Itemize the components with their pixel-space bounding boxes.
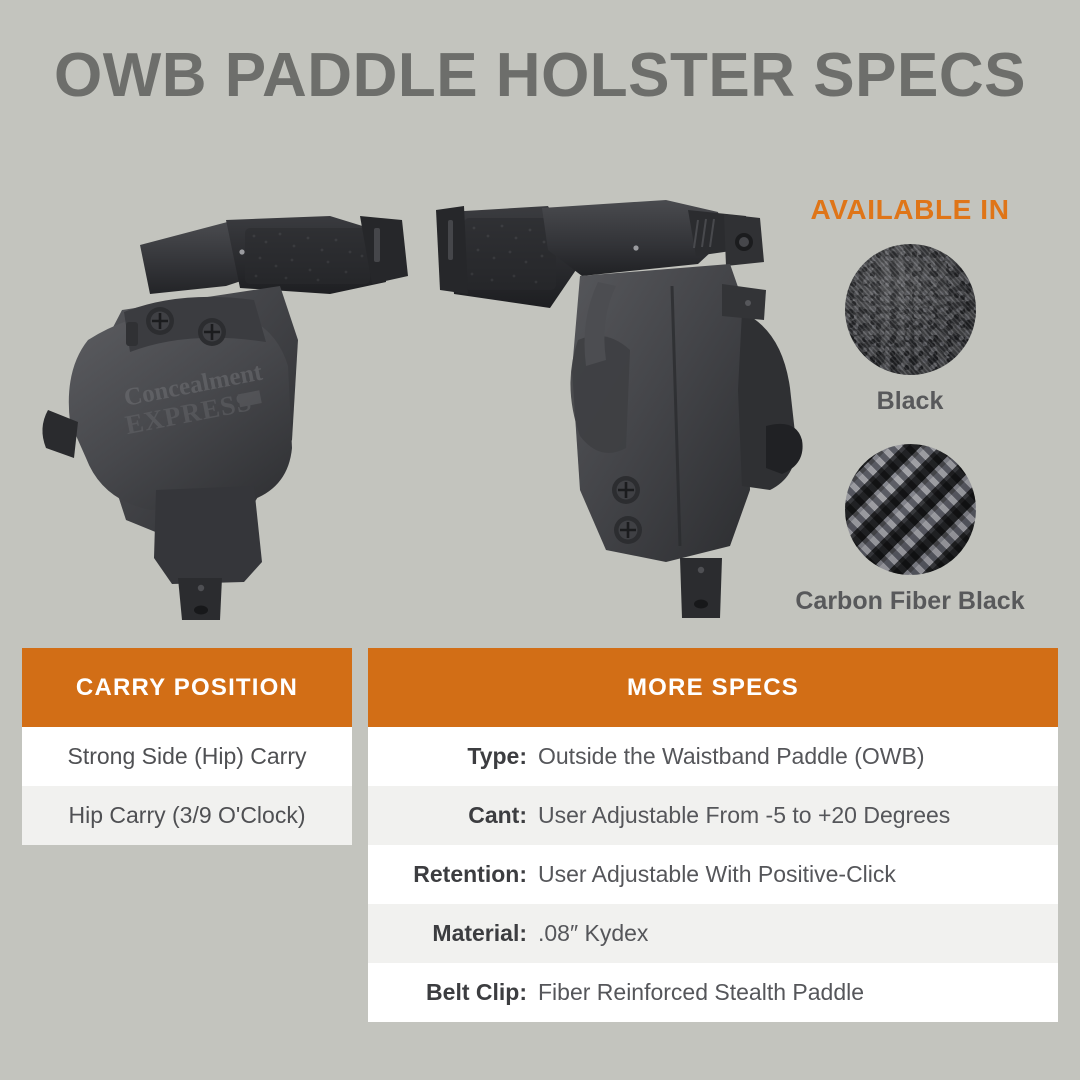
table-row: Hip Carry (3/9 O'Clock)	[22, 786, 352, 845]
black-kydex-swatch[interactable]	[845, 244, 976, 375]
spec-label: Belt Clip:	[368, 979, 538, 1006]
holster-front-view: Concealment EXPRESS	[30, 190, 430, 630]
carry-position-value: Strong Side (Hip) Carry	[22, 727, 352, 786]
spec-label: Retention:	[368, 861, 538, 888]
carbon-fiber-swatch[interactable]	[845, 444, 976, 575]
carry-position-header: CARRY POSITION	[22, 648, 352, 727]
swatch-black[interactable]: Black	[760, 244, 1060, 416]
adjustment-screw	[146, 307, 174, 335]
spec-value: User Adjustable With Positive-Click	[538, 861, 1058, 888]
product-photo-group: Concealment EXPRESS	[18, 190, 818, 630]
table-row: Retention: User Adjustable With Positive…	[368, 845, 1058, 904]
adjustment-screw	[198, 318, 226, 346]
spec-label: Cant:	[368, 802, 538, 829]
swatch-label: Carbon Fiber Black	[760, 587, 1060, 616]
more-specs-header: MORE SPECS	[368, 648, 1058, 727]
spec-value: Fiber Reinforced Stealth Paddle	[538, 979, 1058, 1006]
spec-value: .08″ Kydex	[538, 920, 1058, 947]
swatch-label: Black	[760, 387, 1060, 416]
spec-value: Outside the Waistband Paddle (OWB)	[538, 743, 1058, 770]
table-row: Material: .08″ Kydex	[368, 904, 1058, 963]
table-row: Strong Side (Hip) Carry	[22, 727, 352, 786]
more-specs-table: MORE SPECS Type: Outside the Waistband P…	[368, 648, 1058, 1022]
adjustment-screw	[612, 476, 640, 504]
available-in-heading: AVAILABLE IN	[760, 194, 1060, 226]
carry-position-value: Hip Carry (3/9 O'Clock)	[22, 786, 352, 845]
table-row: Type: Outside the Waistband Paddle (OWB)	[368, 727, 1058, 786]
swatch-carbon-fiber[interactable]: Carbon Fiber Black	[760, 444, 1060, 616]
spec-label: Type:	[368, 743, 538, 770]
table-row: Belt Clip: Fiber Reinforced Stealth Padd…	[368, 963, 1058, 1022]
carry-position-table: CARRY POSITION Strong Side (Hip) Carry H…	[22, 648, 352, 845]
page-title: OWB Paddle Holster Specs	[0, 44, 1080, 108]
spec-value: User Adjustable From -5 to +20 Degrees	[538, 802, 1058, 829]
adjustment-screw	[614, 516, 642, 544]
table-row: Cant: User Adjustable From -5 to +20 Deg…	[368, 786, 1058, 845]
spec-label: Material:	[368, 920, 538, 947]
